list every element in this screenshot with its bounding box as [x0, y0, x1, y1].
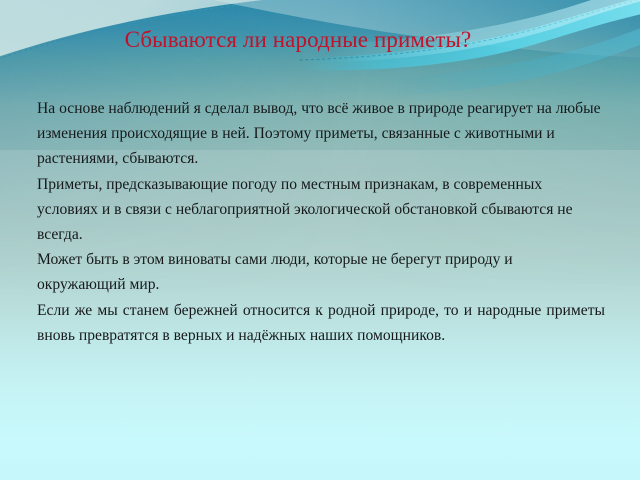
paragraph-2: Приметы, предсказывающие погоду по местн…	[37, 172, 605, 248]
page-title: Сбываются ли народные приметы?	[38, 27, 558, 53]
paragraph-3: Может быть в этом виноваты сами люди, ко…	[37, 247, 605, 297]
paragraph-1: На основе наблюдений я сделал вывод, что…	[37, 96, 605, 172]
body-text-block: На основе наблюдений я сделал вывод, что…	[37, 96, 605, 348]
paragraph-4: Если же мы станем бережней относится к р…	[37, 298, 605, 348]
presentation-slide: Сбываются ли народные приметы? На основе…	[0, 0, 640, 480]
slide-content: Сбываются ли народные приметы? На основе…	[0, 0, 640, 480]
